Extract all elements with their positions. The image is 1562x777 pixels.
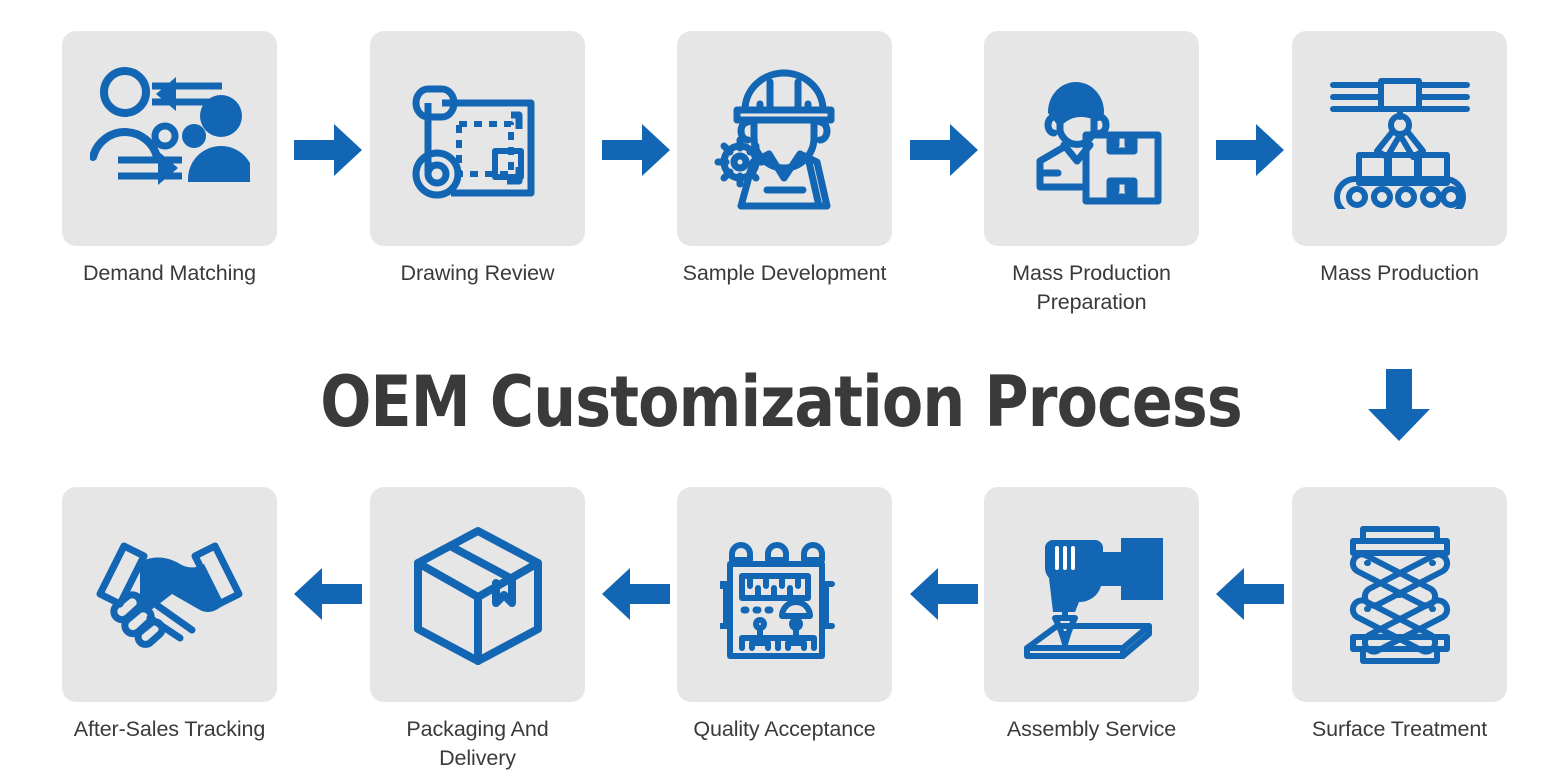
step-after-sales-tracking[interactable]: After-Sales Tracking	[62, 487, 277, 744]
step-label: Demand Matching	[62, 259, 277, 288]
arrow-right-icon-4	[1216, 124, 1284, 176]
step-icon-tile	[984, 31, 1199, 246]
arrow-left-icon-2	[602, 568, 670, 620]
step-mass-production[interactable]: Mass Production	[1292, 31, 1507, 288]
arrow-right-icon-3	[910, 124, 978, 176]
drawing-review-icon	[403, 69, 553, 209]
demand-matching-icon	[90, 64, 250, 214]
step-drawing-review[interactable]: Drawing Review	[370, 31, 585, 288]
step-sample-development[interactable]: Sample Development	[677, 31, 892, 288]
mass-production-icon	[1325, 69, 1475, 209]
step-label: After-Sales Tracking	[62, 715, 277, 744]
arrow-left-icon-3	[910, 568, 978, 620]
sample-development-icon	[707, 66, 862, 211]
arrow-left-icon-1	[294, 568, 362, 620]
step-icon-tile	[62, 487, 277, 702]
step-surface-treatment[interactable]: Surface Treatment	[1292, 487, 1507, 744]
step-icon-tile	[370, 31, 585, 246]
arrow-left-icon-4	[1216, 568, 1284, 620]
step-assembly-service[interactable]: Assembly Service	[984, 487, 1199, 744]
process-diagram: Demand Matching	[0, 0, 1562, 777]
power-drill-icon	[1017, 522, 1167, 667]
step-label: Drawing Review	[370, 259, 585, 288]
step-icon-tile	[370, 487, 585, 702]
mass-production-preparation-icon	[1014, 69, 1169, 209]
handshake-icon	[92, 532, 247, 657]
step-label: Assembly Service	[984, 715, 1199, 744]
page-title: OEM Customization Process	[109, 362, 1452, 442]
scissor-lift-icon	[1345, 525, 1455, 665]
step-packaging-and-delivery[interactable]: Packaging And Delivery	[370, 487, 585, 773]
step-icon-tile	[984, 487, 1199, 702]
arrow-right-icon-1	[294, 124, 362, 176]
step-label: Mass Production	[1292, 259, 1507, 288]
step-label: Quality Acceptance	[677, 715, 892, 744]
step-icon-tile	[1292, 487, 1507, 702]
step-label: Mass Production Preparation	[984, 259, 1199, 317]
step-demand-matching[interactable]: Demand Matching	[62, 31, 277, 288]
step-icon-tile	[1292, 31, 1507, 246]
step-label: Surface Treatment	[1292, 715, 1507, 744]
step-icon-tile	[677, 487, 892, 702]
step-quality-acceptance[interactable]: Quality Acceptance	[677, 487, 892, 744]
step-label: Sample Development	[677, 259, 892, 288]
step-icon-tile	[677, 31, 892, 246]
arrow-right-icon-2	[602, 124, 670, 176]
step-mass-production-preparation[interactable]: Mass Production Preparation	[984, 31, 1199, 317]
step-icon-tile	[62, 31, 277, 246]
package-box-icon	[408, 525, 548, 665]
step-label: Packaging And Delivery	[370, 715, 585, 773]
quality-inspection-icon	[720, 530, 850, 660]
